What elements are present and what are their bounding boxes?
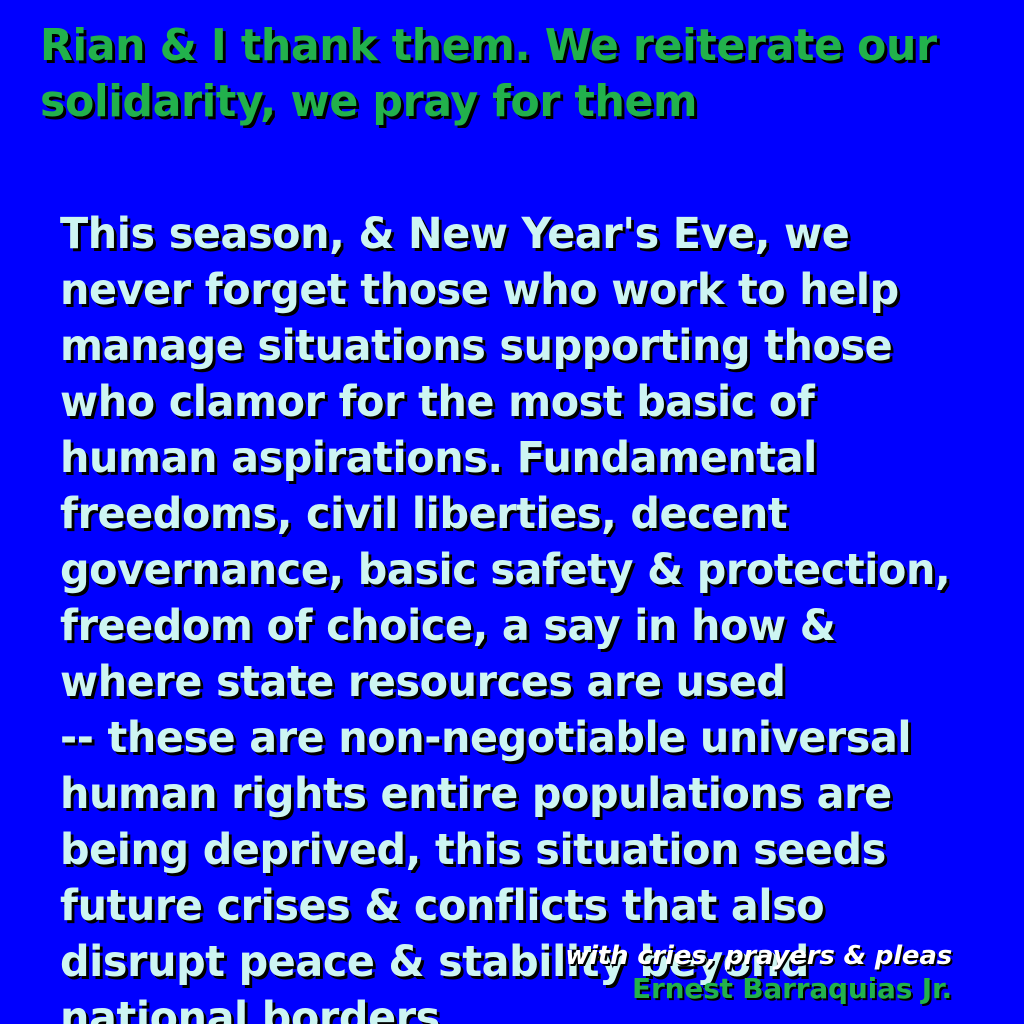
poster-canvas: Rian & I thank them. We reiterate our so…	[0, 0, 1024, 1024]
attribution: with cries, prayers & pleas Ernest Barra…	[565, 940, 952, 1006]
body-paragraph-1: This season, & New Year's Eve, we never …	[60, 209, 950, 707]
attribution-tagline: with cries, prayers & pleas	[565, 940, 952, 972]
body-text: This season, & New Year's Eve, we never …	[60, 150, 962, 1024]
attribution-author: Ernest Barraquias Jr.	[565, 972, 952, 1006]
page-title: Rian & I thank them. We reiterate our so…	[40, 18, 971, 130]
